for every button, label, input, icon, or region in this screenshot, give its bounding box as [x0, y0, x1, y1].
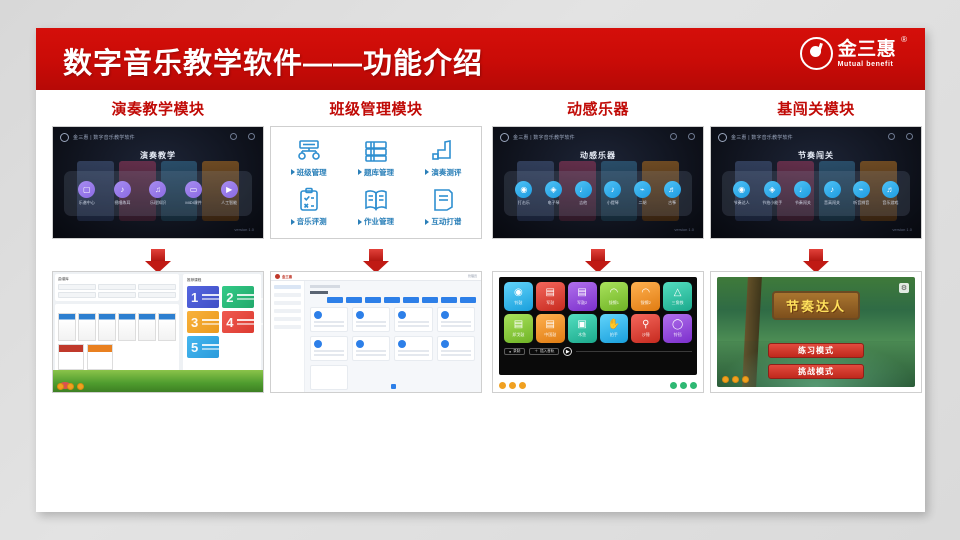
- score-thumbnail[interactable]: [118, 313, 136, 341]
- right-tool-icon[interactable]: [690, 382, 697, 389]
- app-screen-title: 动感乐器: [493, 150, 703, 161]
- column-title: 基闯关模块: [710, 90, 922, 126]
- filter-chip[interactable]: [98, 284, 136, 290]
- class-card[interactable]: [352, 336, 390, 361]
- pad-button[interactable]: ◉铃鼓: [504, 282, 533, 311]
- snare-drum-icon: ▤: [546, 288, 555, 298]
- pad-button[interactable]: ▤中国鼓: [536, 314, 565, 343]
- books-icon: [362, 138, 390, 164]
- score-card-large[interactable]: [58, 344, 84, 370]
- pad-button[interactable]: ◠钹镲2: [631, 282, 660, 311]
- screenshot-percussion-board[interactable]: ◉铃鼓 ▤军鼓 ▤军鼓2 ◠钹镲1 ◠钹镲2 △三角铁 ▤邦戈鼓 ▤中国鼓 ▣木…: [492, 271, 704, 393]
- score-card-large[interactable]: [87, 344, 113, 370]
- practice-mode-button[interactable]: 练习模式: [768, 343, 864, 358]
- app-icon-item[interactable]: ♪ 视唱练耳: [114, 181, 131, 206]
- app-icon-item[interactable]: ⌁听音辨音: [853, 181, 870, 206]
- class-card[interactable]: [352, 307, 390, 332]
- avatar: [314, 340, 322, 348]
- filter-chip[interactable]: [138, 284, 176, 290]
- sidebar-item[interactable]: [274, 325, 301, 329]
- user-icon[interactable]: [230, 133, 237, 140]
- avatar: [314, 311, 322, 319]
- app-screen-title: 演奏教学: [53, 150, 263, 161]
- app-icon-label: 小提琴: [607, 200, 619, 206]
- admin-logo-icon: [275, 274, 280, 279]
- percussion-icon: ◉: [515, 181, 532, 198]
- sheet-music-icon: ▢: [78, 181, 95, 198]
- flow-arrow-wrapper: [710, 239, 922, 271]
- bell-icon: ◯: [672, 320, 683, 330]
- piano-icon: [429, 138, 457, 164]
- score-thumbnail[interactable]: [98, 313, 116, 341]
- feature-item[interactable]: 演奏测评: [410, 133, 477, 183]
- settings-icon[interactable]: [688, 133, 695, 140]
- pad-button[interactable]: △三角铁: [663, 282, 692, 311]
- open-book-icon: [362, 187, 390, 213]
- snare-drum-2-icon: ▤: [577, 288, 586, 298]
- app-icon-item[interactable]: ♪小提琴: [604, 181, 621, 206]
- app-icon-label: 乐谱中心: [79, 200, 95, 206]
- unit-list-title: 推荐课程: [187, 278, 257, 283]
- toolbar-button[interactable]: [422, 297, 438, 303]
- screenshot-rhythm-levels-home[interactable]: 金三惠 | 数字音乐教学软件 节奏闯关 ◉节奏达人: [710, 126, 922, 239]
- pad-button[interactable]: ✋拍手: [600, 314, 629, 343]
- app-icon-label: 乐理知识: [150, 200, 166, 206]
- violin-icon: ♪: [604, 181, 621, 198]
- app-logo-icon: [718, 133, 727, 142]
- app-icon-item[interactable]: ⌁二胡: [634, 181, 651, 206]
- app-icon-item[interactable]: ▭ MIDI课件: [185, 181, 202, 206]
- game-tool-icon[interactable]: [732, 376, 739, 383]
- app-icon-item[interactable]: ▶ 人工智能: [221, 181, 238, 206]
- class-card[interactable]: [310, 336, 348, 361]
- registered-trademark-icon: ®: [901, 35, 907, 44]
- modules-grid: 演奏教学模块 金三惠 | 数字音乐教学软件 演奏教学: [36, 90, 925, 512]
- cymbal-icon: ◠: [610, 288, 619, 298]
- game-title: 节奏达人: [772, 291, 860, 320]
- app-icon-label: 节奏闯关: [795, 200, 811, 206]
- app-version-label: version 1.0: [674, 227, 694, 232]
- toolbar-button[interactable]: [460, 297, 476, 303]
- page-title: 数字音乐教学软件——功能介绍: [63, 40, 483, 82]
- column-title: 动感乐器: [492, 90, 704, 126]
- class-icon: [295, 138, 323, 164]
- feature-item[interactable]: 作业管理: [342, 183, 409, 233]
- plus-icon: ＋: [534, 349, 538, 354]
- toolbar-button[interactable]: [384, 297, 400, 303]
- app-icon-label: 吉他: [579, 200, 587, 206]
- app-logo-icon: [60, 133, 69, 142]
- pad-label: 沙锤: [642, 332, 650, 338]
- timeline-track[interactable]: [576, 351, 692, 353]
- feature-label: 作业管理: [358, 216, 394, 227]
- unit-number: 2: [226, 290, 233, 305]
- game-tool-icon[interactable]: [742, 376, 749, 383]
- toolbar-button[interactable]: [403, 297, 419, 303]
- screenshot-dynamic-instruments-home[interactable]: 金三惠 | 数字音乐教学软件 动感乐器 ◉打击乐: [492, 126, 704, 239]
- toolbar-dot-icon[interactable]: [67, 383, 74, 390]
- left-tool-icon[interactable]: [509, 382, 516, 389]
- clipboard-icon: [295, 187, 323, 213]
- score-thumbnail[interactable]: [78, 313, 96, 341]
- ai-icon: ▶: [221, 181, 238, 198]
- unit-card[interactable]: 3: [187, 311, 219, 333]
- app-icon-item[interactable]: ▢ 乐谱中心: [78, 181, 95, 206]
- app-brand-label: 金三惠 | 数字音乐教学软件: [731, 134, 793, 141]
- unit-card[interactable]: 2: [222, 286, 254, 308]
- pad-label: 三角铁: [672, 300, 684, 306]
- midi-courseware-icon: ▭: [185, 181, 202, 198]
- unit-number: 5: [191, 340, 198, 355]
- challenge-mode-button[interactable]: 挑战模式: [768, 364, 864, 379]
- down-arrow-icon: [151, 249, 165, 261]
- slide-canvas: 数字音乐教学软件——功能介绍 金三惠 Mutual benefit ® 演奏教学…: [36, 28, 925, 512]
- gear-icon[interactable]: ⚙: [899, 283, 909, 293]
- left-tool-icon[interactable]: [499, 382, 506, 389]
- tambourine-icon: ◉: [514, 288, 523, 298]
- app-icon-bar: ◉节奏达人 ◈节拍小能手 ♩节奏闯关 ♪音高闯关 ⌁听音辨音 ♬音乐游戏: [722, 171, 910, 216]
- feature-item[interactable]: 音乐评测: [275, 183, 342, 233]
- avatar: [398, 311, 406, 319]
- record-icon: ●: [509, 350, 511, 354]
- module-column-rhythm-levels: 基闯关模块 金三惠 | 数字音乐教学软件 节奏闯关: [710, 90, 922, 393]
- flow-arrow-wrapper: [270, 239, 482, 271]
- pad-label: 铃铛: [674, 332, 682, 338]
- column-title: 班级管理模块: [270, 90, 482, 126]
- module-column-class-management: 班级管理模块 班级管理: [270, 90, 482, 393]
- sidebar-item[interactable]: [274, 301, 301, 305]
- app-icon-label: 听音辨音: [853, 200, 869, 206]
- woodblock-icon: ▣: [577, 320, 586, 330]
- settings-icon[interactable]: [906, 133, 913, 140]
- module-column-performance-teaching: 演奏教学模块 金三惠 | 数字音乐教学软件 演奏教学: [52, 90, 264, 393]
- app-icon-item[interactable]: ♬古筝: [664, 181, 681, 206]
- app-icon-label: 二胡: [638, 200, 646, 206]
- toolbar-button[interactable]: [346, 297, 362, 303]
- beat-helper-icon: ◈: [764, 181, 781, 198]
- screenshot-web-admin[interactable]: 金三惠 管理员: [270, 271, 482, 393]
- app-icon-item[interactable]: ♬音乐游戏: [882, 181, 899, 206]
- pagination-current-page[interactable]: [391, 384, 396, 389]
- rhythm-master-icon: ◉: [733, 181, 750, 198]
- unit-card[interactable]: 1: [187, 286, 219, 308]
- app-version-label: version 1.0: [892, 227, 912, 232]
- filter-chip[interactable]: [98, 292, 136, 298]
- logo-english-name: Mutual benefit: [838, 61, 897, 68]
- app-version-label: version 1.0: [234, 227, 254, 232]
- flow-arrow-wrapper: [52, 239, 264, 271]
- unit-number: 1: [191, 290, 198, 305]
- avatar: [398, 340, 406, 348]
- avatar: [441, 340, 449, 348]
- app-logo-icon: [500, 133, 509, 142]
- class-card[interactable]: [310, 307, 348, 332]
- note-page-icon: [429, 187, 457, 213]
- guitar-icon: ♩: [575, 181, 592, 198]
- erhu-icon: ⌁: [634, 181, 651, 198]
- app-icon-item[interactable]: ◈节拍小能手: [762, 181, 782, 206]
- app-icon-item[interactable]: ♩节奏闯关: [794, 181, 811, 206]
- admin-user-label[interactable]: 管理员: [468, 274, 477, 278]
- pad-label: 木鱼: [578, 332, 586, 338]
- brand-logo: 金三惠 Mutual benefit ®: [800, 37, 907, 70]
- play-icon[interactable]: ▶: [563, 347, 572, 356]
- app-icon-item[interactable]: ♫ 乐理知识: [149, 181, 166, 206]
- app-icon-bar: ◉打击乐 ◈电子琴 ♩吉他 ♪小提琴 ⌁二胡 ♬古筝: [504, 171, 692, 216]
- class-card[interactable]: [437, 307, 475, 332]
- unit-card[interactable]: 4: [222, 311, 254, 333]
- pad-label: 军鼓: [546, 300, 554, 306]
- app-icon-item[interactable]: ♪音高闯关: [824, 181, 841, 206]
- feature-item[interactable]: 班级管理: [275, 133, 342, 183]
- right-tool-icon[interactable]: [680, 382, 687, 389]
- clap-icon: ✋: [608, 320, 620, 330]
- feature-label: 题库管理: [358, 167, 394, 178]
- triangle-icon: △: [674, 288, 682, 298]
- rhythm-level-icon: ♩: [794, 181, 811, 198]
- class-card[interactable]: [394, 336, 432, 361]
- music-game-icon: ♬: [882, 181, 899, 198]
- app-icon-label: 音高闯关: [824, 200, 840, 206]
- feature-label: 班级管理: [291, 167, 327, 178]
- module-column-dynamic-instruments: 动感乐器 金三惠 | 数字音乐教学软件 动感乐器: [492, 90, 704, 393]
- pad-label: 邦戈鼓: [512, 332, 524, 338]
- pad-button[interactable]: ◠钹镲1: [600, 282, 629, 311]
- pad-label: 中国鼓: [544, 332, 556, 338]
- maracas-icon: ⚲: [642, 320, 649, 330]
- keyboard-icon: ◈: [545, 181, 562, 198]
- app-icon-label: 古筝: [668, 200, 676, 206]
- toolbar-dot-icon[interactable]: [57, 383, 64, 390]
- app-icon-label: 音乐游戏: [882, 200, 898, 206]
- toolbar-button[interactable]: [327, 297, 343, 303]
- record-button[interactable]: ●录制: [504, 348, 525, 355]
- sidebar-item[interactable]: [274, 317, 301, 321]
- app-brand-label: 金三惠 | 数字音乐教学软件: [73, 134, 135, 141]
- class-card[interactable]: [437, 336, 475, 361]
- app-icon-label: MIDI课件: [185, 200, 201, 206]
- insert-track-button[interactable]: ＋插入音轨: [529, 348, 559, 355]
- app-icon-item[interactable]: ♩吉他: [575, 181, 592, 206]
- logo-chinese-name: 金三惠: [838, 40, 897, 59]
- filter-chip[interactable]: [58, 284, 96, 290]
- app-brand-label: 金三惠 | 数字音乐教学软件: [513, 134, 575, 141]
- score-thumbnail[interactable]: [138, 313, 156, 341]
- pad-button[interactable]: ▣木鱼: [568, 314, 597, 343]
- feature-label: 互动打谱: [425, 216, 461, 227]
- feature-label: 演奏测评: [425, 167, 461, 178]
- user-icon[interactable]: [888, 133, 895, 140]
- app-icon-item[interactable]: ◉打击乐: [515, 181, 532, 206]
- pad-label: 军鼓2: [577, 300, 587, 306]
- app-icon-label: 节奏达人: [734, 200, 750, 206]
- score-thumbnail[interactable]: [58, 313, 76, 341]
- pad-label: 铃鼓: [514, 300, 522, 306]
- app-icon-label: 电子琴: [547, 200, 559, 206]
- unit-card[interactable]: 5: [187, 336, 219, 358]
- grass-decoration: [53, 370, 263, 392]
- pad-button[interactable]: ⚲沙锤: [631, 314, 660, 343]
- pad-button[interactable]: ▤邦戈鼓: [504, 314, 533, 343]
- avatar: [356, 340, 364, 348]
- pitch-level-icon: ♪: [824, 181, 841, 198]
- app-icon-label: 打击乐: [518, 200, 530, 206]
- settings-icon[interactable]: [248, 133, 255, 140]
- down-arrow-icon: [369, 249, 383, 261]
- app-icon-label: 人工智能: [221, 200, 237, 206]
- column-title: 演奏教学模块: [52, 90, 264, 126]
- feature-item[interactable]: 题库管理: [342, 133, 409, 183]
- music-theory-icon: ♫: [149, 181, 166, 198]
- pad-button[interactable]: ▤军鼓2: [568, 282, 597, 311]
- game-tool-icon[interactable]: [722, 376, 729, 383]
- toolbar-button[interactable]: [441, 297, 457, 303]
- feature-item[interactable]: 互动打谱: [410, 183, 477, 233]
- score-thumbnail[interactable]: [158, 313, 176, 341]
- right-tool-icon[interactable]: [670, 382, 677, 389]
- guzheng-icon: ♬: [664, 181, 681, 198]
- slide-header: 数字音乐教学软件——功能介绍 金三惠 Mutual benefit ®: [36, 28, 925, 90]
- app-screen-title: 节奏闯关: [711, 150, 921, 161]
- left-tool-icon[interactable]: [519, 382, 526, 389]
- breadcrumb: [310, 285, 340, 288]
- bongo-icon: ▤: [514, 320, 523, 330]
- score-list-title: [58, 307, 176, 311]
- cymbal-2-icon: ◠: [641, 288, 650, 298]
- app-icon-label: 节拍小能手: [762, 200, 782, 206]
- screenshot-rhythm-game[interactable]: ⚙ 节奏达人 练习模式 挑战模式: [710, 271, 922, 393]
- screenshot-class-management-icons[interactable]: 班级管理 题库管理: [270, 126, 482, 239]
- user-icon[interactable]: [670, 133, 677, 140]
- avatar: [356, 311, 364, 319]
- flow-arrow-wrapper: [492, 239, 704, 271]
- admin-page-title: [310, 291, 328, 295]
- app-icon-bar: ▢ 乐谱中心 ♪ 视唱练耳 ♫ 乐理知识 ▭ M: [64, 171, 252, 216]
- admin-sidebar: [271, 281, 305, 392]
- app-icon-item[interactable]: ◈电子琴: [545, 181, 562, 206]
- sidebar-item[interactable]: [274, 293, 301, 297]
- pad-label: 钹镲1: [609, 300, 619, 306]
- toolbar-button[interactable]: [365, 297, 381, 303]
- chinese-drum-icon: ▤: [546, 320, 555, 330]
- pad-button[interactable]: ▤军鼓: [536, 282, 565, 311]
- app-icon-item[interactable]: ◉节奏达人: [733, 181, 750, 206]
- filter-panel-title: 曲谱库: [58, 277, 176, 282]
- toolbar-dot-icon[interactable]: [77, 383, 84, 390]
- down-arrow-icon: [591, 249, 605, 261]
- down-arrow-icon: [809, 249, 823, 261]
- admin-brand-label: 金三惠: [282, 274, 292, 279]
- screenshot-performance-teaching-home[interactable]: 金三惠 | 数字音乐教学软件 演奏教学: [52, 126, 264, 239]
- class-card[interactable]: [394, 307, 432, 332]
- pad-label: 钹镲2: [641, 300, 651, 306]
- app-icon-label: 视唱练耳: [114, 200, 130, 206]
- sidebar-item[interactable]: [274, 309, 301, 313]
- pad-button[interactable]: ◯铃铛: [663, 314, 692, 343]
- unit-number: 3: [191, 315, 198, 330]
- music-note-logo-icon: [800, 37, 833, 70]
- sidebar-item[interactable]: [274, 285, 301, 289]
- screenshot-score-library[interactable]: 曲谱库: [52, 271, 264, 393]
- filter-chip[interactable]: [58, 292, 96, 298]
- unit-number: 4: [226, 315, 233, 330]
- feature-label: 音乐评测: [291, 216, 327, 227]
- filter-chip[interactable]: [138, 292, 176, 298]
- ear-test-icon: ⌁: [853, 181, 870, 198]
- avatar: [441, 311, 449, 319]
- pad-label: 拍手: [610, 332, 618, 338]
- ear-training-icon: ♪: [114, 181, 131, 198]
